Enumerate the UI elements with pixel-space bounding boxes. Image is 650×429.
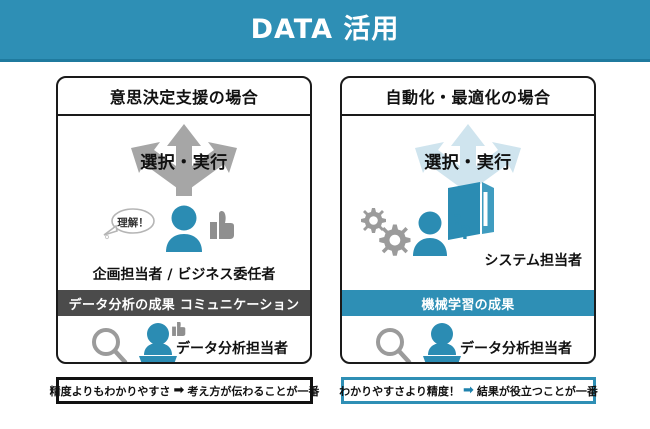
page-header: DATA 活用 (0, 0, 650, 59)
person-icon (163, 204, 205, 252)
caption-text: わかりやすさより精度！ ➡ 結果が役立つことが一番 (339, 383, 598, 399)
band-machine-learning: 機械学習の成果 (342, 290, 594, 316)
panel-automation-optimization: 自動化・最適化の場合 選択・実行 (340, 76, 596, 364)
panel-footer-decision-support: データ分析担当者 (58, 316, 310, 364)
band-communication: データ分析の成果 コミュニケーション (58, 290, 310, 316)
footer-name-analyst: データ分析担当者 (176, 338, 288, 358)
actor-name-system: システム担当者 (484, 250, 582, 270)
three-way-arrow-icon: 選択・実行 (109, 122, 259, 200)
footer-name-analyst: データ分析担当者 (460, 338, 572, 358)
panel-body-automation: 選択・実行 (342, 116, 594, 290)
actor-row-system: ? ? システム担当者 (342, 200, 594, 290)
svg-text:理解！: 理解！ (117, 216, 149, 229)
band-label: 機械学習の成果 (421, 294, 514, 313)
magnifier-icon (374, 326, 412, 364)
magnifier-icon (90, 326, 128, 364)
actor-name-business: 企画担当者 / ビジネス委任者 (58, 264, 310, 284)
band-label: データ分析の成果 コミュニケーション (69, 294, 300, 313)
page-title: DATA 活用 (251, 16, 400, 43)
right-arrow-icon: ➡ (173, 384, 184, 397)
panel-body-decision-support: 選択・実行 理解！ 企画担当者 / ビジネス委任者 (58, 116, 310, 290)
caption-automation-optimization: わかりやすさより精度！ ➡ 結果が役立つことが一番 (341, 377, 596, 404)
caption-after: 考え方が伝わることが一番 (187, 383, 319, 399)
panel-header-decision-support: 意思決定支援の場合 (58, 78, 310, 116)
caption-before: 精度よりもわかりやすさ (50, 383, 171, 399)
panel-title: 自動化・最適化の場合 (385, 84, 550, 108)
caption-before: わかりやすさより精度！ (339, 383, 460, 399)
caption-decision-support: 精度よりもわかりやすさ ➡ 考え方が伝わることが一番 (56, 377, 313, 404)
person-question-icon: ? ? (408, 210, 474, 256)
thumbs-up-icon (208, 210, 236, 240)
panel-decision-support: 意思決定支援の場合 選択・実行 (56, 76, 312, 364)
right-arrow-icon: ➡ (463, 384, 474, 397)
panel-header-automation: 自動化・最適化の場合 (342, 78, 594, 116)
caption-after: 結果が役立つことが一番 (477, 383, 598, 399)
actor-row-business: 理解！ 企画担当者 / ビジネス委任者 (58, 200, 310, 290)
arrow-label: 選択・実行 (109, 148, 259, 173)
header-divider (0, 59, 650, 62)
caption-text: 精度よりもわかりやすさ ➡ 考え方が伝わることが一番 (50, 383, 320, 399)
svg-text:?: ? (460, 222, 471, 244)
panel-title: 意思決定支援の場合 (110, 84, 259, 108)
arrow-label: 選択・実行 (393, 148, 543, 173)
panel-footer-automation: データ分析担当者 (342, 316, 594, 364)
gear-icon (356, 206, 414, 256)
speech-bubble-icon: 理解！ (100, 206, 156, 240)
